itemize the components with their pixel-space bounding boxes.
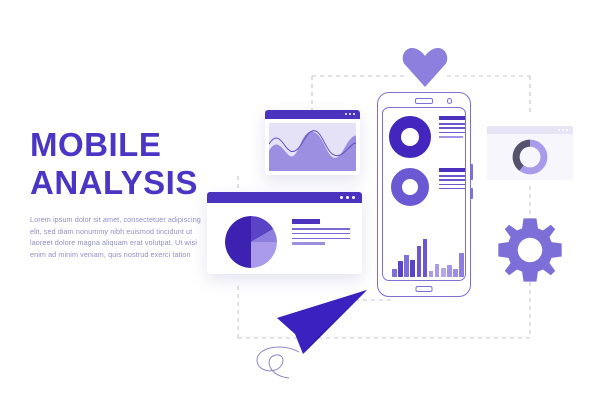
window-body [207,203,362,274]
text-line [292,228,350,230]
body-paragraph: Lorem ipsum dolor sit amet, consectetuer… [30,214,208,260]
text-header-bar [439,168,465,172]
pie-chart [225,216,277,268]
text-line [292,233,350,235]
pie-slice-d [251,242,277,268]
phone-speaker-icon [415,98,433,104]
bar [441,268,446,277]
donut-chart-window[interactable] [487,126,573,180]
donut-chart-primary [389,116,431,158]
text-line [439,123,466,125]
phone-bar-chart [392,235,466,277]
window-title-bar [207,192,362,203]
text-line [439,184,466,186]
phone-metric-block-1 [389,116,466,158]
window-controls-dots-icon[interactable] [558,129,568,131]
text-line [439,127,466,129]
text-line [439,188,466,190]
page-title: MOBILE ANALYSIS [30,126,198,202]
window-controls-dots-icon[interactable] [345,113,355,115]
pie-window-text-lines [292,219,352,249]
text-line [292,238,350,240]
bar [453,269,458,277]
bar [410,260,415,277]
pie-chart-svg [225,216,277,268]
bar [429,271,434,277]
bar [404,255,409,277]
phone-home-button-icon[interactable] [416,286,433,292]
bar [459,253,464,277]
text-line [439,175,466,177]
bar [423,239,428,277]
plane-body [277,290,367,354]
window-title-bar [487,126,573,134]
heart-icon [402,44,448,88]
phone-metric-text-2 [439,168,466,192]
illustration-canvas: MOBILE ANALYSIS Lorem ipsum dolor sit am… [0,0,600,400]
area-chart-plot [269,123,356,171]
donut-chart-small [510,137,550,177]
text-line-pale [439,136,463,138]
window-body [265,119,360,175]
text-header-bar [292,219,320,224]
phone-screen [382,107,466,281]
plane-trail [257,347,299,378]
bar [417,246,422,277]
bar [466,251,467,277]
bar [392,269,397,277]
phone-metric-block-2 [391,168,466,206]
window-body [487,134,573,180]
paper-plane-icon [255,282,383,380]
pie-chart-window[interactable] [207,192,362,274]
smartphone-mockup[interactable] [377,92,471,297]
pie-slice-a [225,216,251,268]
text-line-short [292,242,325,245]
bar [447,265,452,277]
gear-icon[interactable] [494,214,566,286]
bar [435,264,440,277]
window-controls-dots-icon[interactable] [340,196,355,199]
text-line [439,179,466,181]
area-chart-window[interactable] [265,110,360,175]
window-title-bar [265,110,360,119]
text-header-bar [439,116,465,120]
bar [398,261,403,277]
phone-side-button-upper[interactable] [470,164,473,180]
donut-chart-secondary [391,168,429,206]
area-series-fill [269,132,356,171]
phone-metric-text-1 [439,116,466,141]
area-chart-svg [269,123,356,171]
phone-side-button-lower[interactable] [470,188,473,199]
text-line [439,132,466,134]
